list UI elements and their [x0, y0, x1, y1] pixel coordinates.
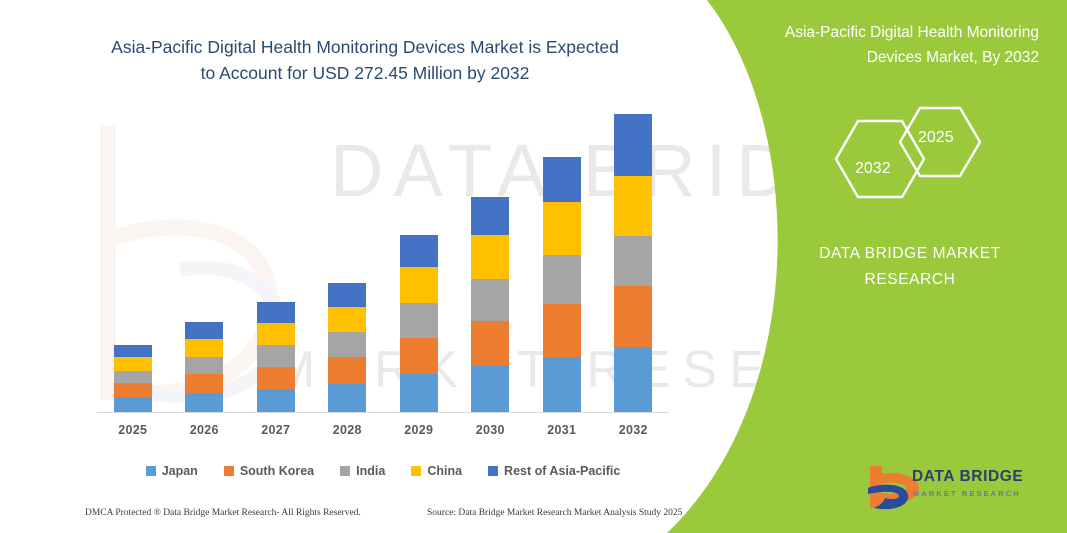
bar-segment-south-korea — [114, 383, 152, 397]
bar-segment-japan — [185, 393, 223, 412]
legend-item-china[interactable]: China — [411, 464, 462, 478]
logo-subtitle: MARKET RESEARCH — [913, 489, 1021, 498]
footer: DMCA Protected ® Data Bridge Market Rese… — [0, 508, 700, 528]
bar-2032 — [614, 114, 652, 412]
bar-segment-south-korea — [328, 357, 366, 384]
bar-2027 — [257, 302, 295, 412]
hexagon-group — [828, 104, 988, 214]
bar-group — [240, 302, 312, 412]
bar-segment-south-korea — [543, 304, 581, 357]
bar-group — [455, 197, 527, 412]
legend-item-south-korea[interactable]: South Korea — [224, 464, 314, 478]
bar-segment-japan — [543, 357, 581, 412]
bar-segment-india — [614, 236, 652, 287]
x-axis-label-2026: 2026 — [169, 423, 241, 437]
x-axis-line — [97, 412, 669, 413]
x-axis-label-2032: 2032 — [598, 423, 670, 437]
bar-group — [598, 114, 670, 412]
bar-2029 — [400, 235, 438, 412]
bar-group — [169, 322, 241, 412]
legend-label: South Korea — [240, 464, 314, 478]
x-axis-labels: 20252026202720282029203020312032 — [97, 423, 669, 437]
footer-source: Source: Data Bridge Market Research Mark… — [427, 508, 682, 518]
hexagon-label-right: 2025 — [918, 129, 954, 147]
bar-segment-india — [185, 357, 223, 374]
bar-segment-india — [400, 303, 438, 337]
bar-segment-china — [471, 235, 509, 279]
footer-copyright: DMCA Protected ® Data Bridge Market Rese… — [85, 508, 361, 518]
panel-title: Asia-Pacific Digital Health Monitoring D… — [777, 20, 1039, 70]
page-title: Asia-Pacific Digital Health Monitoring D… — [105, 34, 625, 86]
infographic-page: DATA BRIDGE MARKET RESEARCH Asia-Pacific… — [0, 0, 1067, 533]
x-axis-label-2031: 2031 — [526, 423, 598, 437]
hexagon-shapes-icon — [828, 104, 988, 214]
legend-item-rest-of-asia-pacific[interactable]: Rest of Asia-Pacific — [488, 464, 620, 478]
panel-brand-text: DATA BRIDGE MARKET RESEARCH — [790, 241, 1030, 293]
bar-segment-south-korea — [257, 367, 295, 390]
bar-segment-japan — [471, 366, 509, 412]
bar-group — [383, 235, 455, 412]
bar-segment-japan — [114, 397, 152, 412]
legend-item-japan[interactable]: Japan — [146, 464, 198, 478]
bar-2026 — [185, 322, 223, 412]
bar-segment-japan — [257, 389, 295, 412]
bar-segment-india — [114, 371, 152, 383]
x-axis-label-2025: 2025 — [97, 423, 169, 437]
bar-segment-india — [543, 255, 581, 304]
panel-brand-line1: DATA BRIDGE MARKET — [790, 241, 1030, 267]
legend-label: China — [427, 464, 462, 478]
logo-title: DATA BRIDGE — [912, 468, 1023, 486]
bar-segment-south-korea — [400, 338, 438, 375]
bar-2028 — [328, 283, 366, 412]
chart-plot-area — [97, 100, 669, 413]
bar-group — [312, 283, 384, 412]
bar-segment-india — [328, 332, 366, 357]
bar-segment-india — [257, 345, 295, 367]
bar-segment-china — [185, 339, 223, 357]
x-axis-label-2030: 2030 — [455, 423, 527, 437]
bar-group — [526, 157, 598, 412]
bar-segment-rest-of-asia-pacific — [328, 283, 366, 307]
bar-segment-rest-of-asia-pacific — [614, 114, 652, 176]
legend-swatch-icon — [146, 466, 156, 476]
x-axis-label-2027: 2027 — [240, 423, 312, 437]
legend-label: Japan — [162, 464, 198, 478]
bar-segment-china — [543, 202, 581, 255]
panel-brand-line2: RESEARCH — [790, 267, 1030, 293]
legend-item-india[interactable]: India — [340, 464, 385, 478]
bar-segment-rest-of-asia-pacific — [543, 157, 581, 202]
bar-group — [97, 345, 169, 412]
bar-segment-japan — [614, 347, 652, 412]
bar-segment-japan — [400, 374, 438, 412]
bar-segment-china — [328, 307, 366, 333]
bar-segment-china — [257, 323, 295, 346]
x-axis-label-2029: 2029 — [383, 423, 455, 437]
stacked-bars — [97, 100, 669, 412]
legend-swatch-icon — [411, 466, 421, 476]
legend-label: Rest of Asia-Pacific — [504, 464, 620, 478]
bar-segment-south-korea — [471, 321, 509, 366]
chart-legend: JapanSouth KoreaIndiaChinaRest of Asia-P… — [97, 464, 669, 478]
bar-2030 — [471, 197, 509, 412]
bar-segment-rest-of-asia-pacific — [257, 302, 295, 322]
hexagon-label-left: 2032 — [855, 160, 891, 178]
bar-segment-south-korea — [614, 286, 652, 347]
x-axis-label-2028: 2028 — [312, 423, 384, 437]
bar-segment-japan — [328, 384, 366, 412]
bar-segment-rest-of-asia-pacific — [400, 235, 438, 267]
bar-segment-rest-of-asia-pacific — [114, 345, 152, 357]
bar-segment-china — [614, 176, 652, 235]
legend-swatch-icon — [224, 466, 234, 476]
bar-segment-india — [471, 279, 509, 321]
legend-label: India — [356, 464, 385, 478]
bar-segment-rest-of-asia-pacific — [471, 197, 509, 235]
bar-segment-china — [114, 357, 152, 371]
bar-2025 — [114, 345, 152, 412]
bar-segment-south-korea — [185, 374, 223, 392]
bar-2031 — [543, 157, 581, 412]
bar-segment-china — [400, 267, 438, 304]
bar-segment-rest-of-asia-pacific — [185, 322, 223, 339]
legend-swatch-icon — [340, 466, 350, 476]
legend-swatch-icon — [488, 466, 498, 476]
